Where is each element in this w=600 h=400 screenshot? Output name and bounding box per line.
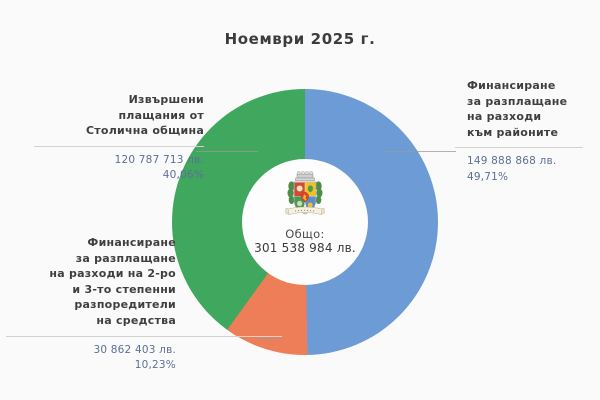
leader-dot-orange bbox=[276, 336, 281, 341]
callout-orange-title-line2: за разплащане bbox=[6, 251, 176, 267]
callout-blue-title-line1: Финансиране bbox=[467, 78, 595, 94]
callout-orange-segment: Финансиране за разплащане на разходи на … bbox=[6, 235, 176, 373]
callout-blue-title-line3: на разходи bbox=[467, 109, 595, 125]
callout-green-segment: Извършени плащания от Столична община 12… bbox=[8, 92, 204, 183]
callout-green-divider bbox=[34, 146, 204, 147]
leader-line-green bbox=[196, 151, 262, 152]
callout-orange-percent: 10,23% bbox=[6, 358, 176, 373]
callout-green-title-line3: Столична община bbox=[8, 123, 204, 139]
callout-green-value: 120 787 713 лв. bbox=[8, 153, 204, 168]
leader-dot-blue bbox=[378, 149, 383, 154]
callout-blue-title-line4: към районите bbox=[467, 125, 595, 141]
sofia-coat-of-arms-icon bbox=[283, 171, 327, 221]
page-title: Ноември 2025 г. bbox=[0, 30, 600, 48]
callout-orange-divider bbox=[6, 336, 282, 337]
callout-green-title-line1: Извършени bbox=[8, 92, 204, 108]
callout-blue-title: Финансиране за разплащане на разходи към… bbox=[467, 78, 595, 140]
callout-green-title-line2: плащания от bbox=[8, 108, 204, 124]
callout-blue-title-line2: за разплащане bbox=[467, 94, 595, 110]
callout-green-title: Извършени плащания от Столична община bbox=[8, 92, 204, 139]
callout-orange-title-line4: и 3-то степенни bbox=[6, 282, 176, 298]
leader-dot-green bbox=[258, 149, 263, 154]
callout-orange-value: 30 862 403 лв. bbox=[6, 343, 176, 358]
callout-blue-value: 149 888 868 лв. bbox=[467, 154, 595, 169]
callout-blue-divider bbox=[455, 147, 583, 148]
center-total-value: 301 538 984 лв. bbox=[254, 241, 356, 255]
callout-green-percent: 40,06% bbox=[8, 168, 204, 183]
callout-blue-segment: Финансиране за разплащане на разходи към… bbox=[467, 78, 595, 185]
donut-center: Общо: 301 538 984 лв. bbox=[242, 159, 368, 285]
callout-orange-title-line1: Финансиране bbox=[6, 235, 176, 251]
leader-line-blue bbox=[380, 151, 456, 152]
callout-orange-title: Финансиране за разплащане на разходи на … bbox=[6, 235, 176, 329]
callout-orange-title-line6: на средства bbox=[6, 313, 176, 329]
callout-orange-title-line5: разпоредители bbox=[6, 297, 176, 313]
callout-orange-title-line3: на разходи на 2-ро bbox=[6, 266, 176, 282]
donut-chart: Общо: 301 538 984 лв. bbox=[172, 89, 438, 355]
callout-blue-percent: 49,71% bbox=[467, 170, 595, 185]
center-total-label: Общо: bbox=[285, 227, 324, 241]
